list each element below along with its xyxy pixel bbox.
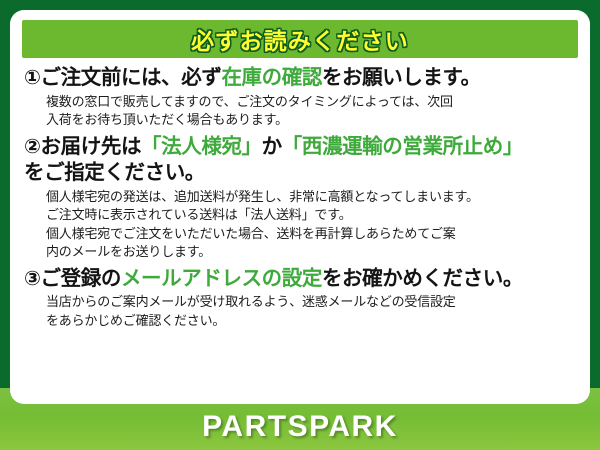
notice-card: 必ずお読みください ①ご注文前には、必ず在庫の確認をお願いします。 複数の窓口で… bbox=[10, 10, 590, 404]
item-2-body: 個人様宅宛の発送は、追加送料が発生し、非常に高額となってしまいます。 ご注文時に… bbox=[46, 188, 576, 262]
list-item: ②お届け先は「法人様宛」か「西濃運輸の営業所止め」をご指定ください。 個人様宅宛… bbox=[24, 134, 576, 262]
notice-items-list: ①ご注文前には、必ず在庫の確認をお願いします。 複数の窓口で販売してますので、ご… bbox=[20, 65, 580, 330]
item-1-heading-pre: ご注文前には、必ず bbox=[41, 66, 222, 89]
item-3-heading-post: をお確かめください。 bbox=[322, 267, 523, 290]
notice-header-bar: 必ずお読みください bbox=[22, 20, 578, 58]
list-item: ①ご注文前には、必ず在庫の確認をお願いします。 複数の窓口で販売してますので、ご… bbox=[24, 65, 576, 130]
item-2-heading-mid: か bbox=[262, 135, 282, 158]
item-1-heading-post: をお願いします。 bbox=[322, 66, 481, 89]
item-3-body: 当店からのご案内メールが受け取れるよう、迷惑メールなどの受信設定 をあらかじめご… bbox=[46, 293, 576, 330]
page-title: 必ずお読みください bbox=[191, 22, 409, 56]
item-3-heading-pre: ご登録の bbox=[41, 267, 121, 290]
item-1-body: 複数の窓口で販売してますので、ご注文のタイミングによっては、次回 入荷をお待ち頂… bbox=[46, 93, 576, 130]
item-2-heading-pre: お届け先は bbox=[41, 135, 142, 158]
item-1-heading-highlight: 在庫の確認 bbox=[221, 66, 322, 89]
item-3-heading: ③ご登録のメールアドレスの設定をお確かめください。 bbox=[24, 266, 576, 293]
item-2-heading-highlight: 「法人様宛」 bbox=[141, 135, 262, 158]
list-item: ③ご登録のメールアドレスの設定をお確かめください。 当店からのご案内メールが受け… bbox=[24, 266, 576, 331]
item-3-number: ③ bbox=[24, 268, 41, 290]
item-1-number: ① bbox=[24, 67, 41, 89]
item-2-heading-highlight-2: 「西濃運輸の営業所止め」 bbox=[282, 135, 523, 158]
notice-frame: 必ずお読みください ①ご注文前には、必ず在庫の確認をお願いします。 複数の窓口で… bbox=[0, 0, 600, 450]
item-2-heading: ②お届け先は「法人様宛」か「西濃運輸の営業所止め」をご指定ください。 bbox=[24, 134, 576, 187]
footer-brand-row: PARTSPARK bbox=[0, 404, 600, 450]
item-2-heading-line2: をご指定ください。 bbox=[24, 161, 205, 184]
item-3-heading-highlight: メールアドレスの設定 bbox=[121, 267, 322, 290]
brand-logo-text: PARTSPARK bbox=[202, 410, 398, 444]
item-2-number: ② bbox=[24, 136, 41, 158]
item-1-heading: ①ご注文前には、必ず在庫の確認をお願いします。 bbox=[24, 65, 576, 92]
